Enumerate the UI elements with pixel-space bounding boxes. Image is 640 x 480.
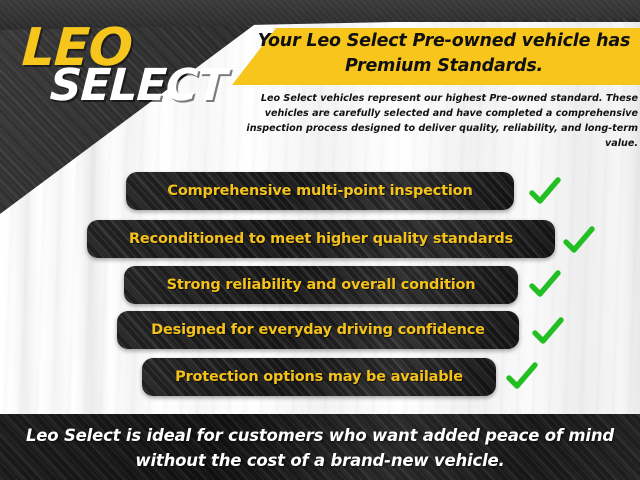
check-icon [531, 315, 565, 349]
feature-pill: Strong reliability and overall condition [124, 266, 518, 304]
feature-label: Strong reliability and overall condition [167, 277, 476, 293]
feature-pill: Designed for everyday driving confidence [117, 311, 519, 349]
feature-pill: Reconditioned to meet higher quality sta… [87, 220, 555, 258]
check-icon [528, 268, 562, 302]
feature-label: Designed for everyday driving confidence [151, 322, 485, 338]
leo-select-promo-poster: LEO SELECT Your Leo Select Pre-owned veh… [0, 0, 640, 480]
feature-label: Protection options may be available [175, 369, 463, 385]
feature-label: Comprehensive multi-point inspection [167, 183, 472, 199]
feature-label: Reconditioned to meet higher quality sta… [129, 231, 513, 247]
check-icon [528, 175, 562, 209]
footer-text: Leo Select is ideal for customers who wa… [24, 424, 616, 474]
headline-text: Your Leo Select Pre-owned vehicle has Pr… [250, 29, 638, 80]
feature-pill: Comprehensive multi-point inspection [126, 172, 514, 210]
feature-pill: Protection options may be available [142, 358, 496, 396]
check-icon [562, 224, 596, 258]
intro-paragraph: Leo Select vehicles represent our highes… [218, 92, 638, 151]
check-icon [505, 360, 539, 394]
